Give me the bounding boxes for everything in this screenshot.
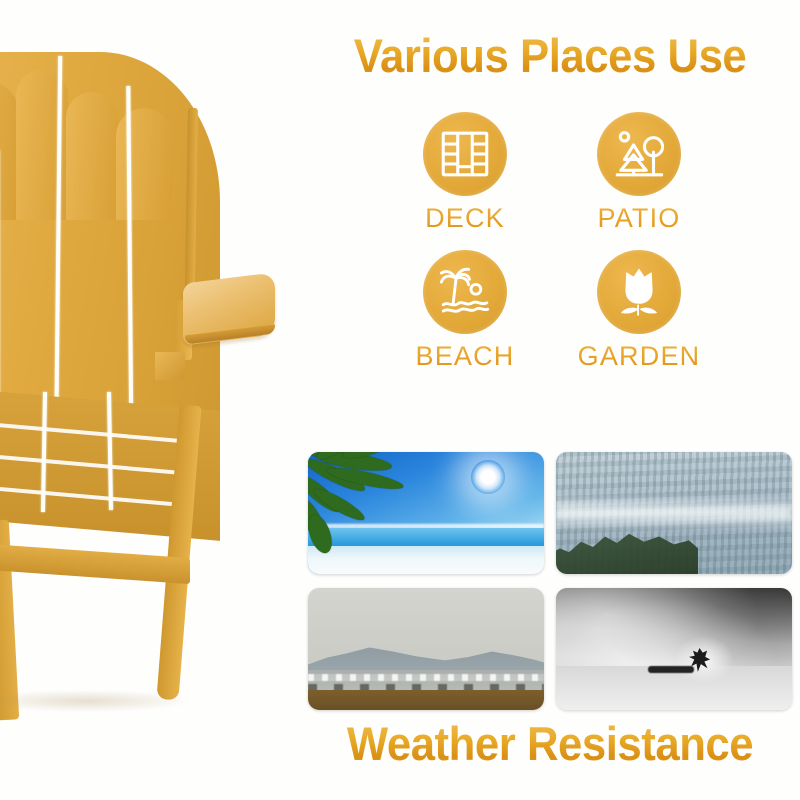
product-marketing-banner: Various Places Use	[0, 0, 800, 800]
chair-stretcher-bar	[0, 542, 190, 584]
place-label-patio: PATIO	[597, 203, 680, 234]
deck-grid-icon	[436, 125, 494, 183]
page-title-weather-resistance: Weather Resistance	[318, 718, 783, 770]
beach-icon-circle	[423, 250, 507, 334]
deck-icon-circle	[423, 112, 507, 196]
palm-fronds	[308, 452, 426, 554]
places-icon-grid: DECK	[392, 112, 712, 372]
patio-icon-circle	[597, 112, 681, 196]
trees-sun-icon	[610, 125, 668, 183]
place-label-garden: GARDEN	[578, 341, 701, 372]
tulip-flower-icon	[610, 263, 668, 321]
place-item-deck[interactable]: DECK	[392, 112, 538, 234]
overcast-coast-photo	[308, 588, 544, 710]
place-item-garden[interactable]: GARDEN	[566, 250, 712, 372]
place-item-beach[interactable]: BEACH	[392, 250, 538, 372]
folding-adirondack-chair-photo	[0, 0, 300, 800]
monochrome-snowstorm-photo	[556, 588, 792, 710]
marketing-content-column: Various Places Use	[300, 0, 800, 800]
chair-ground-shadow	[0, 690, 190, 712]
garden-icon-circle	[597, 250, 681, 334]
place-label-beach: BEACH	[415, 341, 514, 372]
place-label-deck: DECK	[425, 203, 505, 234]
page-title-various-places-use: Various Places Use	[318, 30, 783, 82]
place-item-patio[interactable]: PATIO	[566, 112, 712, 234]
weather-photo-grid	[308, 452, 792, 710]
chair-arm-bracket	[155, 352, 185, 380]
palm-tree-sun-waves-icon	[436, 263, 494, 321]
sunny-tropical-beach-photo	[308, 452, 544, 574]
misty-snowy-forest-photo	[556, 452, 792, 574]
